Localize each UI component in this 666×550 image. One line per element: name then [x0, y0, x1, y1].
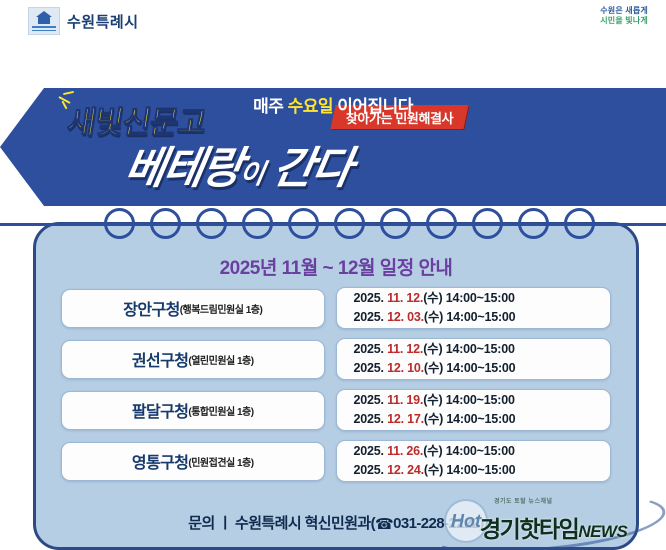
date-month-day: 12. 24.	[387, 463, 424, 477]
date-year: 2025.	[354, 291, 388, 305]
date-year: 2025.	[354, 463, 388, 477]
subline-highlight: 수요일	[288, 97, 333, 116]
subline-prefix: 매주	[253, 97, 288, 116]
binder-ring	[242, 208, 273, 239]
date-month-day: 11. 26.	[387, 444, 423, 458]
contact-paren-close: )	[479, 515, 483, 532]
contact-dept: 수원특례시 혁신민원과	[235, 515, 371, 532]
schedule-row: 장안구청(행복드림민원실 1층)2025. 11. 12.(수) 14:00~1…	[61, 287, 611, 329]
date-weekday: (수)	[423, 444, 442, 458]
date-year: 2025.	[354, 310, 388, 324]
slogan-line-2: 시민을 빛나게	[600, 16, 648, 26]
office-location: (민원접견실 1층)	[188, 454, 253, 469]
office-location: (통합민원실 1층)	[188, 403, 253, 418]
binder-ring	[380, 208, 411, 239]
date-line: 2025. 11. 26.(수) 14:00~15:00	[354, 442, 611, 461]
date-month-day: 12. 17.	[387, 412, 424, 426]
city-logo: 수원특례시	[28, 7, 139, 35]
date-time: 14:00~15:00	[443, 463, 515, 477]
banner-subline: 매주 수요일 이어집니다	[0, 92, 666, 117]
date-time: 14:00~15:00	[443, 361, 515, 375]
date-weekday: (수)	[423, 342, 442, 356]
poster-canvas: 수원특례시 수원은 새롭게 시민을 빛나게	[0, 0, 666, 550]
binder-ring	[472, 208, 503, 239]
date-month-day: 12. 03.	[387, 310, 424, 324]
date-line: 2025. 12. 10.(수) 14:00~15:00	[354, 359, 611, 378]
date-month-day: 11. 19.	[387, 393, 423, 407]
schedule-panel: 2025년 11월 ~ 12월 일정 안내 장안구청(행복드림민원실 1층)20…	[33, 222, 639, 550]
date-line: 2025. 12. 03.(수) 14:00~15:00	[354, 308, 611, 327]
subline-suffix: 이어집니다	[333, 97, 413, 116]
date-time: 14:00~15:00	[443, 310, 515, 324]
contact-line: 문의 ㅣ 수원특례시 혁신민원과(☎031-228-2222)	[36, 512, 636, 533]
binder-ring	[564, 208, 595, 239]
office-name: 팔달구청	[132, 398, 188, 422]
slogan-line-1: 수원은 새롭게	[600, 6, 648, 16]
schedule-row: 영통구청(민원접견실 1층)2025. 11. 26.(수) 14:00~15:…	[61, 440, 611, 482]
date-line: 2025. 12. 24.(수) 14:00~15:00	[354, 461, 611, 480]
office-cell: 장안구청(행복드림민원실 1층)	[61, 289, 325, 328]
date-line: 2025. 11. 19.(수) 14:00~15:00	[354, 391, 611, 410]
binder-ring	[518, 208, 549, 239]
binder-ring	[104, 208, 135, 239]
office-location: (행복드림민원실 1층)	[180, 301, 263, 316]
office-name: 영통구청	[132, 449, 188, 473]
binder-rings-strip	[0, 206, 666, 240]
date-time: 14:00~15:00	[442, 393, 514, 407]
city-slogan: 수원은 새롭게 시민을 빛나게	[600, 6, 648, 26]
date-weekday: (수)	[424, 310, 443, 324]
schedule-row: 팔달구청(통합민원실 1층)2025. 11. 19.(수) 14:00~15:…	[61, 389, 611, 431]
date-year: 2025.	[354, 342, 388, 356]
schedule-rows: 장안구청(행복드림민원실 1층)2025. 11. 12.(수) 14:00~1…	[61, 287, 611, 491]
date-line: 2025. 11. 12.(수) 14:00~15:00	[354, 340, 611, 359]
binder-ring	[196, 208, 227, 239]
date-weekday: (수)	[423, 393, 442, 407]
date-year: 2025.	[354, 361, 388, 375]
office-name: 장안구청	[123, 296, 179, 320]
binder-ring	[150, 208, 181, 239]
date-weekday: (수)	[424, 463, 443, 477]
contact-phone: 031-228-2222	[393, 515, 479, 532]
date-weekday: (수)	[424, 361, 443, 375]
date-time: 14:00~15:00	[442, 342, 514, 356]
date-line: 2025. 12. 17.(수) 14:00~15:00	[354, 410, 611, 429]
schedule-row: 권선구청(열린민원실 1층)2025. 11. 12.(수) 14:00~15:…	[61, 338, 611, 380]
date-month-day: 12. 10.	[387, 361, 424, 375]
date-year: 2025.	[354, 393, 388, 407]
schedule-title: 2025년 11월 ~ 12월 일정 안내	[36, 253, 636, 280]
date-time: 14:00~15:00	[443, 412, 515, 426]
office-name: 권선구청	[132, 347, 188, 371]
binder-ring	[426, 208, 457, 239]
date-month-day: 11. 12.	[387, 291, 423, 305]
dates-cell: 2025. 11. 12.(수) 14:00~15:002025. 12. 10…	[336, 338, 612, 380]
dates-cell: 2025. 11. 19.(수) 14:00~15:002025. 12. 17…	[336, 389, 612, 431]
banner-title-tail: 간다	[269, 144, 355, 193]
binder-ring	[288, 208, 319, 239]
date-weekday: (수)	[423, 291, 442, 305]
date-time: 14:00~15:00	[442, 291, 514, 305]
binder-ring	[334, 208, 365, 239]
poster-header: 수원특례시 수원은 새롭게 시민을 빛나게	[0, 0, 666, 88]
date-year: 2025.	[354, 444, 388, 458]
date-month-day: 11. 12.	[387, 342, 423, 356]
date-time: 14:00~15:00	[442, 444, 514, 458]
banner-title-main: 베테랑	[121, 144, 245, 193]
contact-label: 문의	[188, 515, 214, 532]
date-line: 2025. 11. 12.(수) 14:00~15:00	[354, 289, 611, 308]
office-location: (열린민원실 1층)	[188, 352, 253, 367]
banner-title-particle: 이	[237, 159, 265, 189]
office-cell: 권선구청(열린민원실 1층)	[61, 340, 325, 379]
date-year: 2025.	[354, 412, 388, 426]
telephone-icon: ☎	[375, 515, 393, 533]
dates-cell: 2025. 11. 26.(수) 14:00~15:002025. 12. 24…	[336, 440, 612, 482]
city-name: 수원특례시	[67, 11, 139, 32]
suwon-gate-icon	[28, 7, 60, 35]
contact-divider: ㅣ	[218, 515, 231, 532]
dates-cell: 2025. 11. 12.(수) 14:00~15:002025. 12. 03…	[336, 287, 612, 329]
date-weekday: (수)	[424, 412, 443, 426]
banner-title-white: 베테랑이 간다	[120, 132, 357, 196]
office-cell: 팔달구청(통합민원실 1층)	[61, 391, 325, 430]
office-cell: 영통구청(민원접견실 1층)	[61, 442, 325, 481]
